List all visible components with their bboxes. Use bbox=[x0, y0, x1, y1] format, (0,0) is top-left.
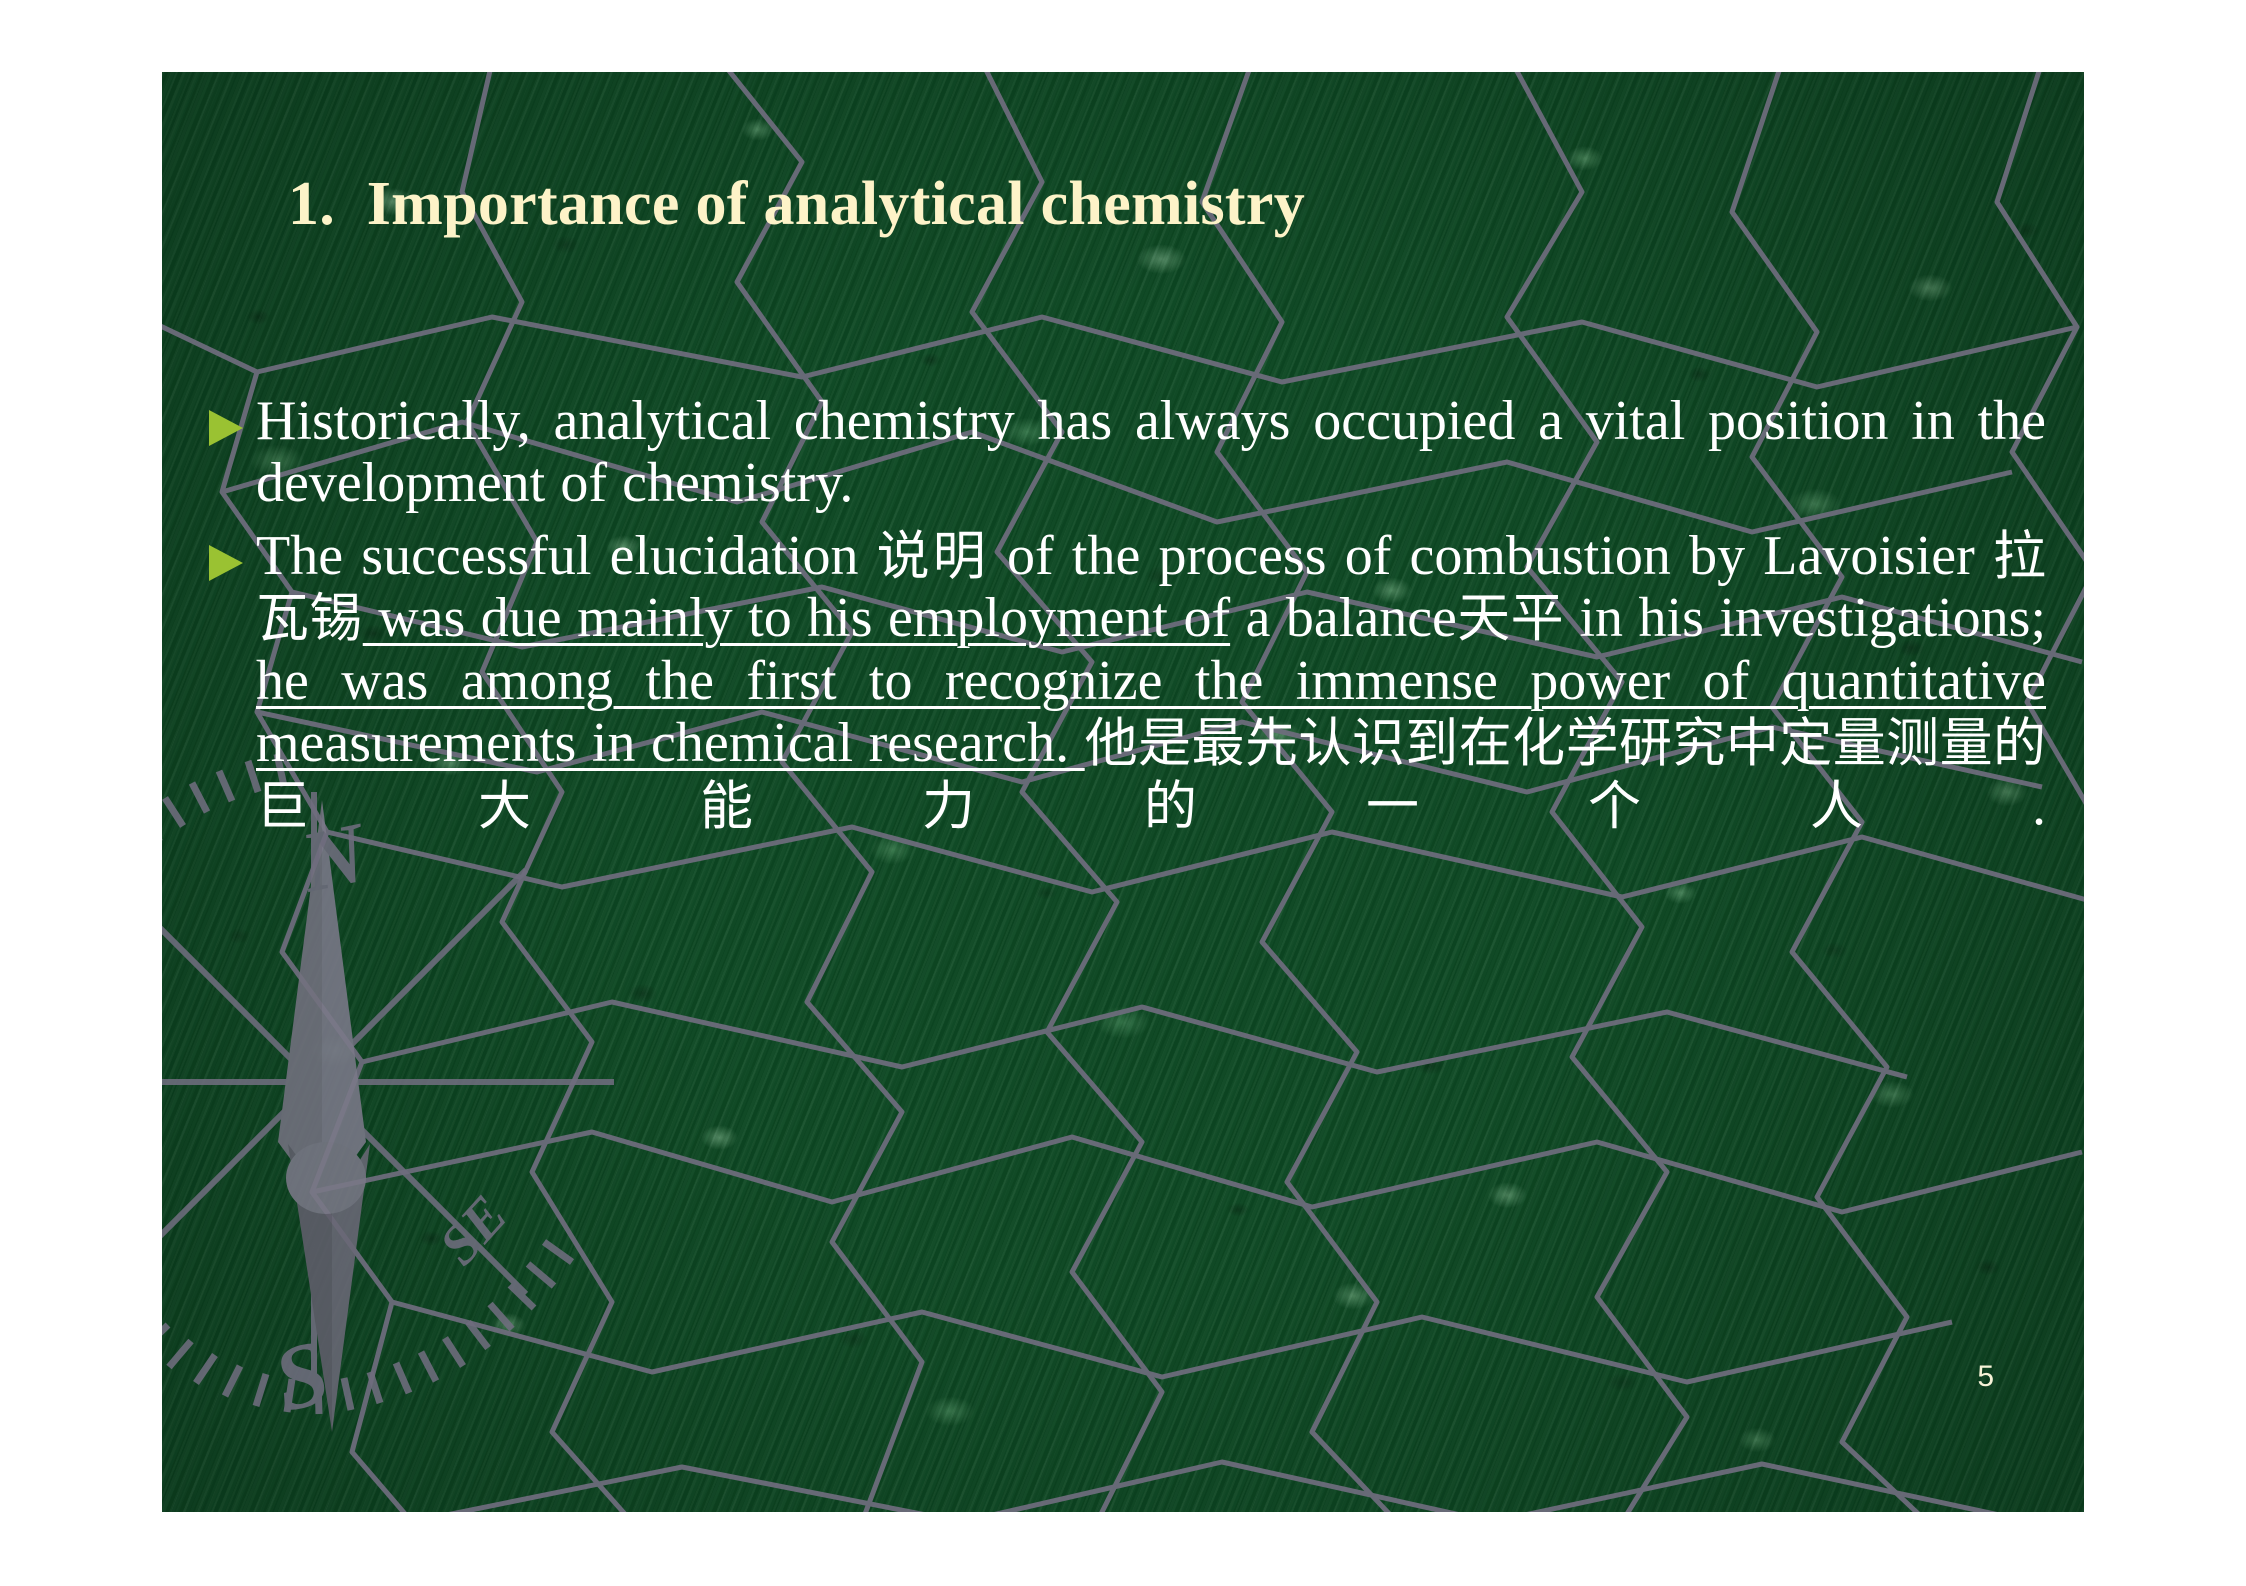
bullet-2-seg-5: a balance bbox=[1230, 587, 1457, 649]
slide-body: Historically, analytical chemistry has a… bbox=[206, 390, 2046, 910]
bullet-2-seg-10: . bbox=[2032, 775, 2046, 837]
triangle-right-bullet-icon bbox=[206, 408, 248, 448]
page-number: 5 bbox=[1977, 1360, 1994, 1394]
bullet-2-seg-2: of the process of combustion by Lavoisie… bbox=[989, 525, 1993, 587]
list-item: The successful elucidation 说明 of the pro… bbox=[206, 525, 2046, 900]
bullet-2-seg-1: 说明 bbox=[877, 526, 989, 587]
page-title: 1. Importance of analytical chemistry bbox=[288, 170, 1988, 239]
bullet-1-seg-0: Historically, analytical chemistry has a… bbox=[256, 390, 2046, 515]
list-item: Historically, analytical chemistry has a… bbox=[206, 390, 2046, 515]
compass-label-south: S bbox=[264, 1320, 338, 1431]
compass-label-southeast: SE bbox=[428, 1184, 520, 1276]
bullet-2-seg-6: 天平 bbox=[1457, 588, 1564, 649]
bullet-2-seg-7: in his investigations; bbox=[1564, 587, 2046, 649]
triangle-right-bullet-icon bbox=[206, 543, 248, 583]
bullet-2-seg-4: was due mainly to his employment of bbox=[363, 587, 1230, 649]
slide-canvas: N S NW SE 1. Importance of analytical ch… bbox=[162, 72, 2084, 1512]
bullet-2-text: The successful elucidation 说明 of the pro… bbox=[256, 525, 2046, 900]
bullet-2-seg-0: The successful elucidation bbox=[256, 525, 877, 587]
bullet-1-text: Historically, analytical chemistry has a… bbox=[256, 390, 2046, 515]
